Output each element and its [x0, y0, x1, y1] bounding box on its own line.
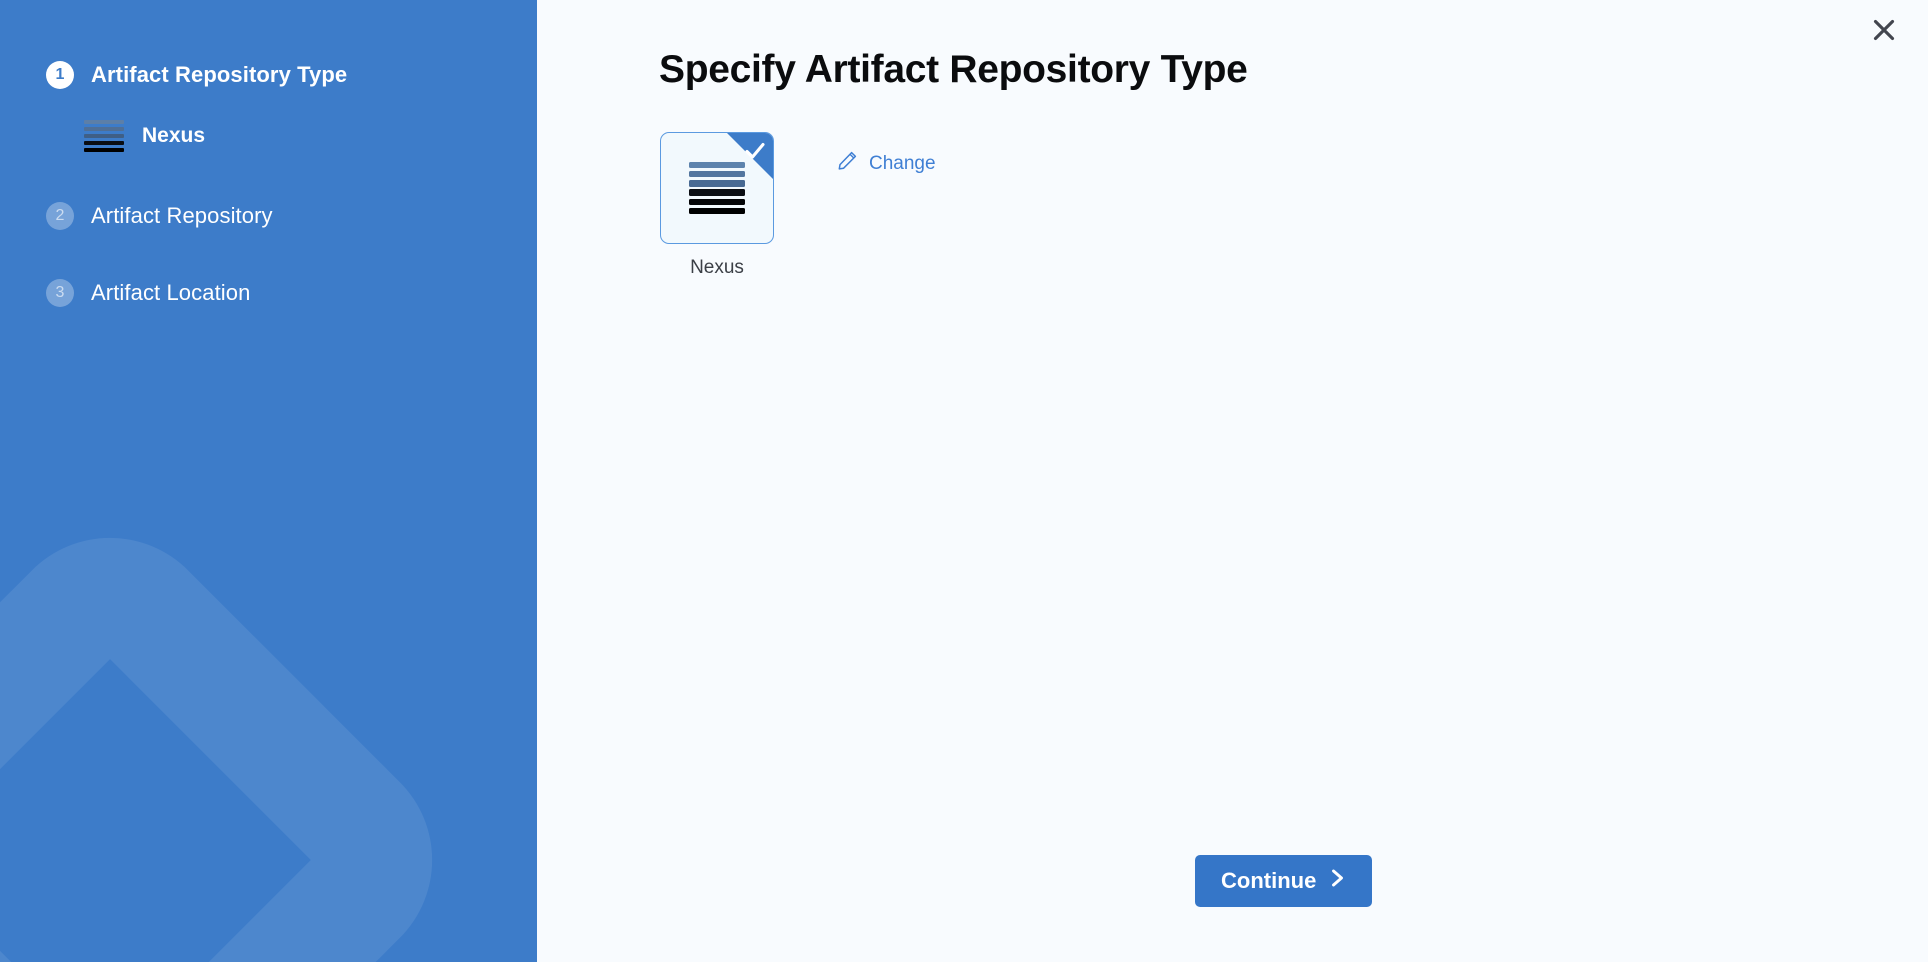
chevron-right-icon — [1330, 868, 1346, 894]
repository-type-selection: Nexus Change — [659, 132, 936, 279]
sidebar-substep-label: Nexus — [142, 124, 205, 148]
sidebar-substep-nexus[interactable]: Nexus — [0, 114, 537, 158]
step-label-2: Artifact Repository — [91, 203, 273, 229]
wizard-sidebar: 1 Artifact Repository Type Nexus 2 Artif… — [0, 0, 537, 962]
sidebar-step-artifact-repository-type[interactable]: 1 Artifact Repository Type — [0, 52, 537, 98]
change-label: Change — [869, 153, 936, 175]
change-button[interactable]: Change — [837, 150, 936, 177]
sidebar-step-artifact-location[interactable]: 3 Artifact Location — [0, 270, 537, 316]
pencil-icon — [837, 150, 858, 177]
continue-button[interactable]: Continue — [1195, 855, 1372, 907]
step-label-3: Artifact Location — [91, 280, 250, 306]
wizard-steps: 1 Artifact Repository Type Nexus 2 Artif… — [0, 0, 537, 316]
nexus-card[interactable] — [660, 132, 774, 244]
artifact-repository-wizard: 1 Artifact Repository Type Nexus 2 Artif… — [0, 0, 1928, 962]
check-icon — [743, 140, 767, 167]
continue-label: Continue — [1221, 868, 1316, 894]
close-icon[interactable] — [1862, 8, 1906, 52]
step-label-1: Artifact Repository Type — [91, 62, 347, 88]
step-badge-1: 1 — [46, 61, 74, 89]
nexus-icon — [84, 120, 124, 152]
nexus-card-label: Nexus — [690, 257, 744, 279]
wizard-main-panel: Specify Artifact Repository Type — [537, 0, 1928, 962]
page-title: Specify Artifact Repository Type — [659, 48, 1248, 92]
step-badge-2: 2 — [46, 202, 74, 230]
decorative-logo-watermark — [0, 492, 478, 962]
nexus-option: Nexus — [659, 132, 775, 279]
sidebar-step-artifact-repository[interactable]: 2 Artifact Repository — [0, 193, 537, 239]
step-badge-3: 3 — [46, 279, 74, 307]
